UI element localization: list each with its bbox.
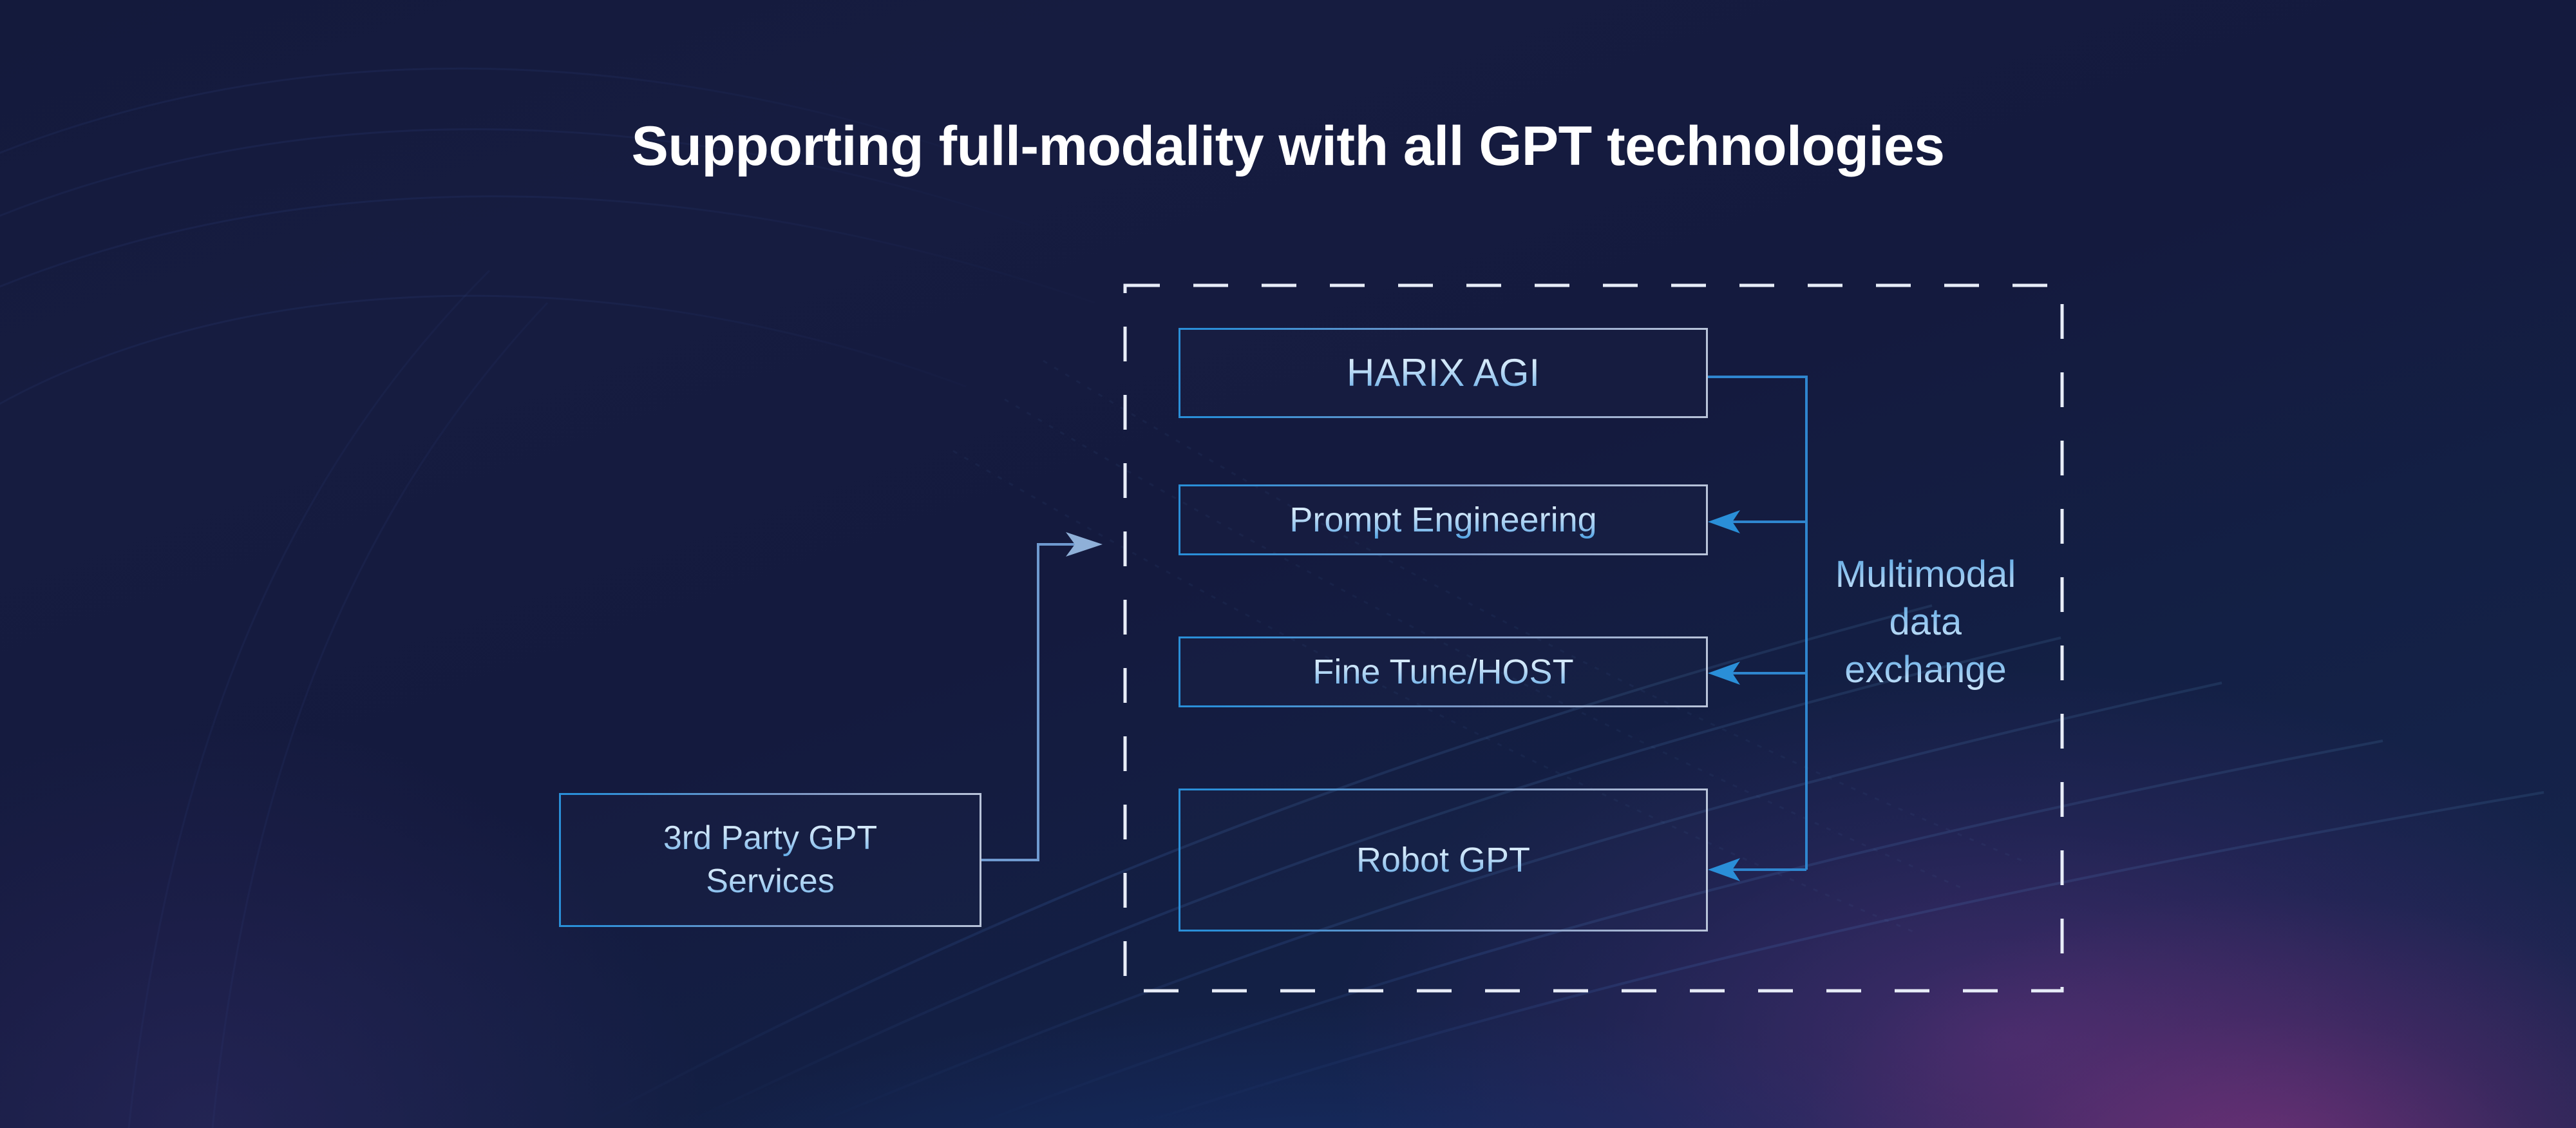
node-fine-tune-host[interactable]: Fine Tune/HOST [1179, 636, 1708, 707]
node-robot-gpt[interactable]: Robot GPT [1179, 789, 1708, 932]
node-fine-tune-host-label: Fine Tune/HOST [1312, 653, 1573, 691]
node-harix-agi[interactable]: HARIX AGI [1179, 328, 1708, 418]
node-third-party-line1: 3rd Party GPT [663, 817, 877, 860]
node-robot-gpt-label: Robot GPT [1356, 841, 1530, 879]
multimodal-label-line3: exchange [1844, 649, 2007, 691]
multimodal-data-exchange-label: Multimodal data exchange [1816, 551, 2035, 694]
multimodal-label-line2: data [1889, 601, 1962, 643]
node-third-party-gpt-services[interactable]: 3rd Party GPT Services [559, 793, 981, 927]
bus-arrowheads [1708, 510, 1740, 881]
node-harix-agi-label: HARIX AGI [1347, 351, 1540, 394]
thirdparty-connector [981, 544, 1088, 860]
diagram-canvas [0, 0, 2576, 1128]
node-prompt-engineering-label: Prompt Engineering [1289, 501, 1596, 539]
multimodal-label-line1: Multimodal [1835, 553, 2016, 595]
node-prompt-engineering[interactable]: Prompt Engineering [1179, 484, 1708, 555]
multimodal-bus [1708, 377, 1806, 870]
node-third-party-line2: Services [706, 860, 834, 903]
